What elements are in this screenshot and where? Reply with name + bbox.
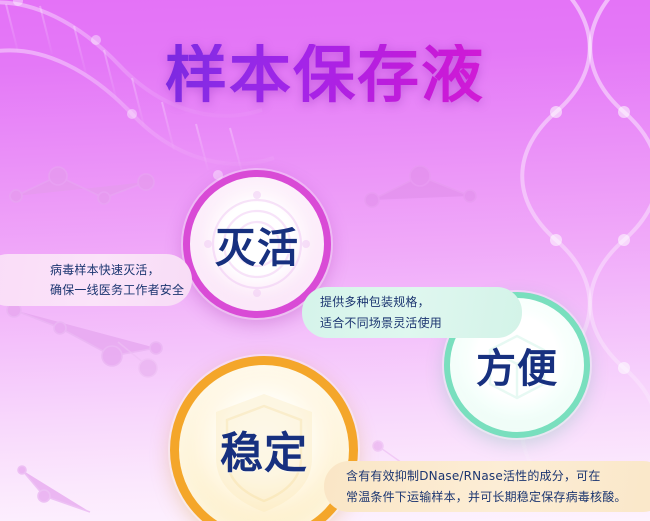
feature-circle-stable: 稳定: [170, 356, 358, 521]
page-title-text: 样本保存液: [165, 44, 485, 106]
feature-circle-label: 稳定: [220, 419, 308, 481]
poster-canvas: 样本保存液 病毒样本快速灭活， 确保一线医务工作者安全 提供多种包装规格， 适合…: [0, 0, 650, 521]
caption-bubble-stable: 含有有效抑制DNase/RNase活性的成分，可在 常温条件下运输样本，并可长期…: [324, 461, 650, 512]
molecule-icon: [365, 166, 476, 207]
caption-line: 含有有效抑制DNase/RNase活性的成分，可在: [346, 466, 650, 486]
feature-circle-label: 方便: [476, 336, 558, 394]
caption-line: 病毒样本快速灭活，: [50, 260, 192, 280]
feature-circle-label: 灭活: [215, 214, 299, 274]
feature-circle-inactivate: 灭活: [183, 170, 331, 318]
molecule-icon: [10, 167, 154, 204]
caption-line: 确保一线医务工作者安全: [50, 280, 192, 300]
caption-line: 常温条件下运输样本，并可长期稳定保存病毒核酸。: [346, 487, 650, 507]
page-title: 样本保存液: [0, 44, 650, 106]
caption-bubble-inactivate: 病毒样本快速灭活， 确保一线医务工作者安全: [0, 254, 192, 306]
molecule-icon: [7, 303, 162, 512]
feature-circle-convenient: 方便: [444, 292, 590, 438]
